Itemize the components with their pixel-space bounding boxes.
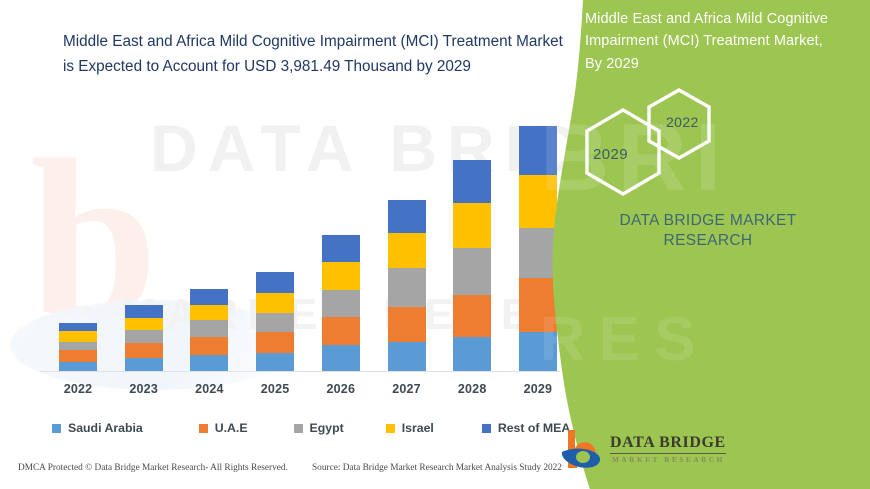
bar-segment-2025-egypt [256,313,294,332]
bar-segment-2023-israel [125,318,163,330]
bar-segment-2023-rest-of-mea [125,305,163,318]
infographic-root: b DATA BRIDGE MARKET RESEARCH Middle Eas… [0,0,870,489]
bar-segment-2022-u-a-e [59,350,97,362]
bar-segment-2028-israel [453,203,491,248]
bar-segment-2022-rest-of-mea [59,323,97,331]
bar-segment-2026-u-a-e [322,317,360,345]
hexagon-group [578,78,838,183]
bar-segment-2022-saudi-arabia [59,362,97,371]
bar-segment-2026-rest-of-mea [322,235,360,262]
stacked-bar-chart: 20222023202420252026202720282029 [0,0,580,400]
x-axis-label-2024: 2024 [179,382,239,396]
logo-mark-icon [560,428,604,470]
bar-2024 [190,289,228,371]
x-axis-label-2025: 2025 [245,382,305,396]
bar-segment-2024-israel [190,305,228,320]
x-axis-label-2027: 2027 [377,382,437,396]
bar-segment-2023-saudi-arabia [125,358,163,371]
chart-baseline [40,371,560,372]
bar-2023 [125,305,163,371]
bar-segment-2024-egypt [190,320,228,337]
legend-item-saudi-arabia[interactable]: Saudi Arabia [52,421,143,435]
bar-segment-2024-rest-of-mea [190,289,228,305]
right-panel-title: Middle East and Africa Mild Cognitive Im… [585,8,835,75]
bar-segment-2026-israel [322,262,360,290]
bar-segment-2027-rest-of-mea [388,200,426,233]
bar-segment-2024-saudi-arabia [190,355,228,371]
x-axis-label-2026: 2026 [311,382,371,396]
legend-item-israel[interactable]: Israel [386,421,434,435]
data-bridge-logo: DATA BRIDGE MARKET RESEARCH [560,428,750,474]
bar-segment-2025-saudi-arabia [256,353,294,371]
legend-swatch-icon [386,424,395,433]
bar-segment-2027-u-a-e [388,307,426,342]
footer-source: Source: Data Bridge Market Research Mark… [312,463,562,473]
bar-segment-2026-saudi-arabia [322,345,360,371]
bar-2026 [322,235,360,371]
bar-segment-2022-israel [59,331,97,342]
legend-label: Saudi Arabia [68,421,143,435]
bar-segment-2027-egypt [388,268,426,307]
x-axis-label-2028: 2028 [442,382,502,396]
bar-segment-2026-egypt [322,290,360,317]
x-axis-label-2023: 2023 [114,382,174,396]
legend-item-u-a-e[interactable]: U.A.E [199,421,248,435]
bar-segment-2023-u-a-e [125,343,163,358]
bar-segment-2027-saudi-arabia [388,342,426,371]
bar-segment-2028-saudi-arabia [453,337,491,371]
legend-item-egypt[interactable]: Egypt [294,421,344,435]
legend-label: Egypt [310,421,344,435]
chart-x-axis-labels: 20222023202420252026202720282029 [0,382,580,406]
bar-segment-2025-rest-of-mea [256,272,294,293]
hexagon-label-2022: 2022 [666,114,699,130]
bar-segment-2024-u-a-e [190,337,228,355]
hexagon-shapes [578,78,838,198]
bar-2022 [59,323,97,371]
logo-tagline: MARKET RESEARCH [612,456,725,464]
legend-swatch-icon [199,424,208,433]
bar-segment-2022-egypt [59,342,97,350]
legend-swatch-icon [482,424,491,433]
bar-segment-2028-u-a-e [453,295,491,337]
svg-text:RES: RES [540,305,709,374]
bar-segment-2025-u-a-e [256,332,294,353]
hexagon-label-2029: 2029 [593,146,628,163]
bar-segment-2027-israel [388,233,426,268]
footer-copyright: DMCA Protected © Data Bridge Market Rese… [18,463,288,473]
legend-swatch-icon [52,424,61,433]
brand-line-2: RESEARCH [578,230,838,252]
legend-swatch-icon [294,424,303,433]
logo-name: DATA BRIDGE [610,434,726,454]
bar-segment-2023-egypt [125,330,163,343]
bar-2027 [388,200,426,371]
x-axis-label-2022: 2022 [48,382,108,396]
bar-segment-2028-egypt [453,248,491,295]
legend-label: Israel [402,421,434,435]
bar-segment-2028-rest-of-mea [453,160,491,203]
chart-legend: Saudi ArabiaU.A.EEgyptIsraelRest of MEA [52,418,570,438]
bar-2025 [256,272,294,371]
right-green-panel: BRI RES Middle East and Africa Mild Cogn… [540,0,870,489]
legend-label: U.A.E [215,421,248,435]
bar-2028 [453,160,491,371]
bar-segment-2025-israel [256,293,294,313]
